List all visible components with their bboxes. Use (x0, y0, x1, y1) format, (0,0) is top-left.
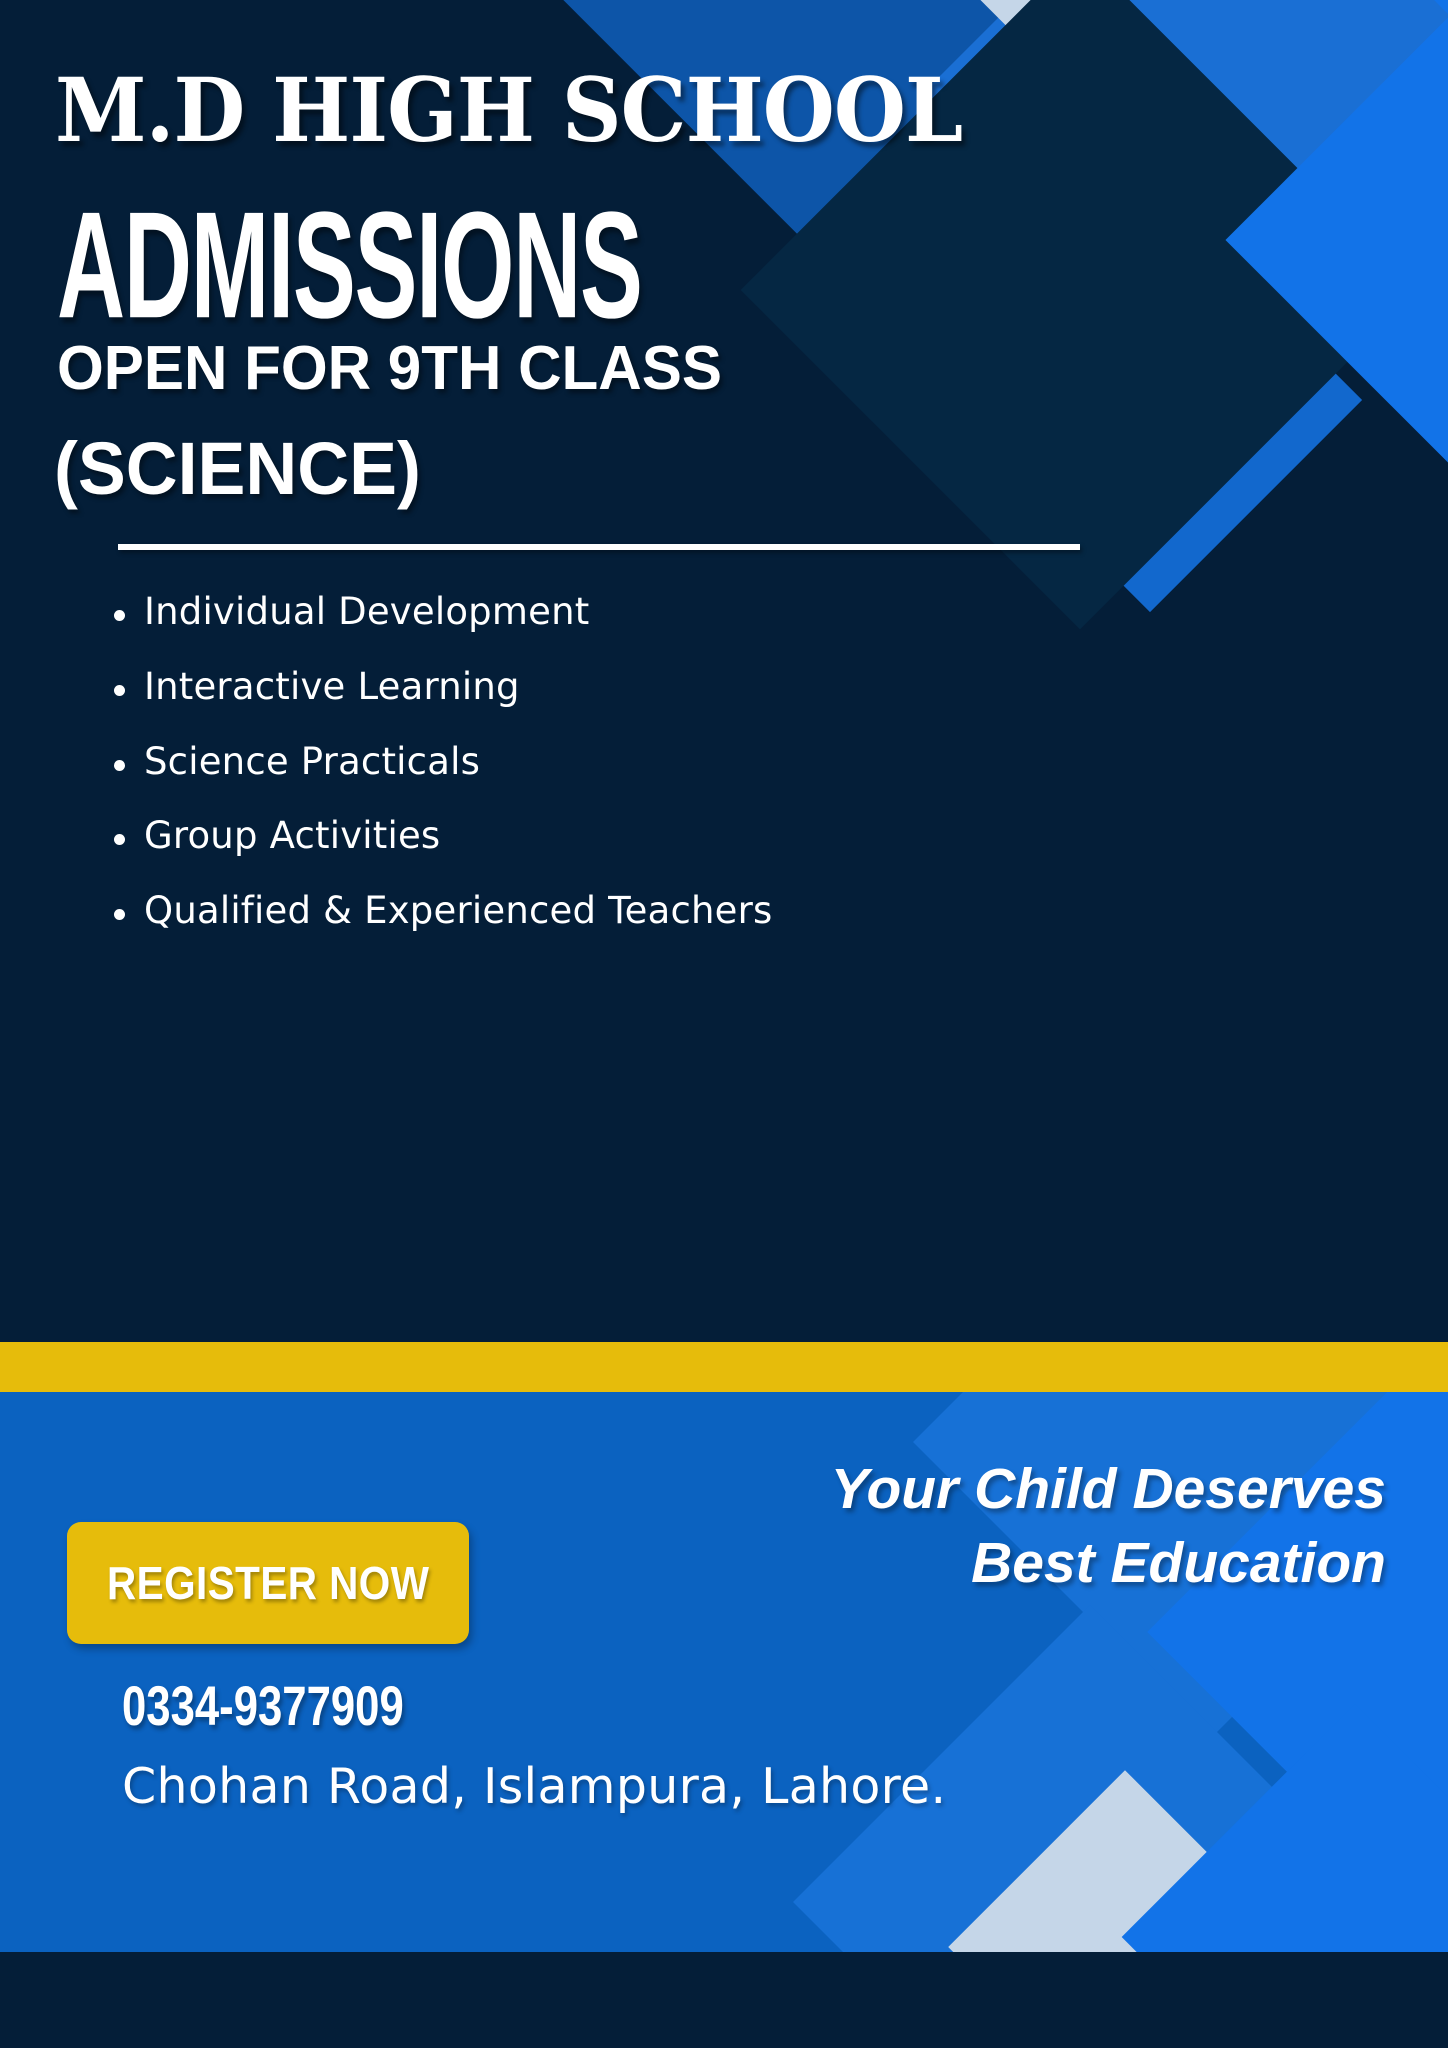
underline-rule (118, 544, 1080, 550)
page-title: M.D HIGH SCHOOL (55, 66, 962, 154)
program-label: (SCIENCE) (54, 432, 421, 506)
contact-phone[interactable]: 0334-9377909 (122, 1678, 404, 1734)
list-item: Science Practicals (110, 738, 810, 787)
list-item: Interactive Learning (110, 663, 810, 712)
list-item: Group Activities (110, 812, 810, 861)
headline-admissions: ADMISSIONS (57, 190, 642, 342)
list-item: Individual Development (110, 588, 810, 637)
admissions-poster: M.D HIGH SCHOOL ADMISSIONS OPEN FOR 9TH … (0, 0, 1448, 2048)
list-item: Qualified & Experienced Teachers (110, 887, 810, 936)
tagline-line-2: Best Education (666, 1526, 1386, 1600)
contact-address: Chohan Road, Islampura, Lahore. (122, 1762, 946, 1811)
tagline-line-1: Your Child Deserves (666, 1452, 1386, 1526)
subheadline-open-for: OPEN FOR 9TH CLASS (57, 338, 722, 400)
footer-dark-bar (0, 1952, 1448, 2048)
yellow-divider-band (0, 1342, 1448, 1392)
register-now-label: REGISTER NOW (107, 1556, 429, 1610)
register-now-button[interactable]: REGISTER NOW (67, 1522, 469, 1644)
features-list: Individual Development Interactive Learn… (110, 588, 810, 962)
tagline: Your Child Deserves Best Education (666, 1452, 1386, 1600)
